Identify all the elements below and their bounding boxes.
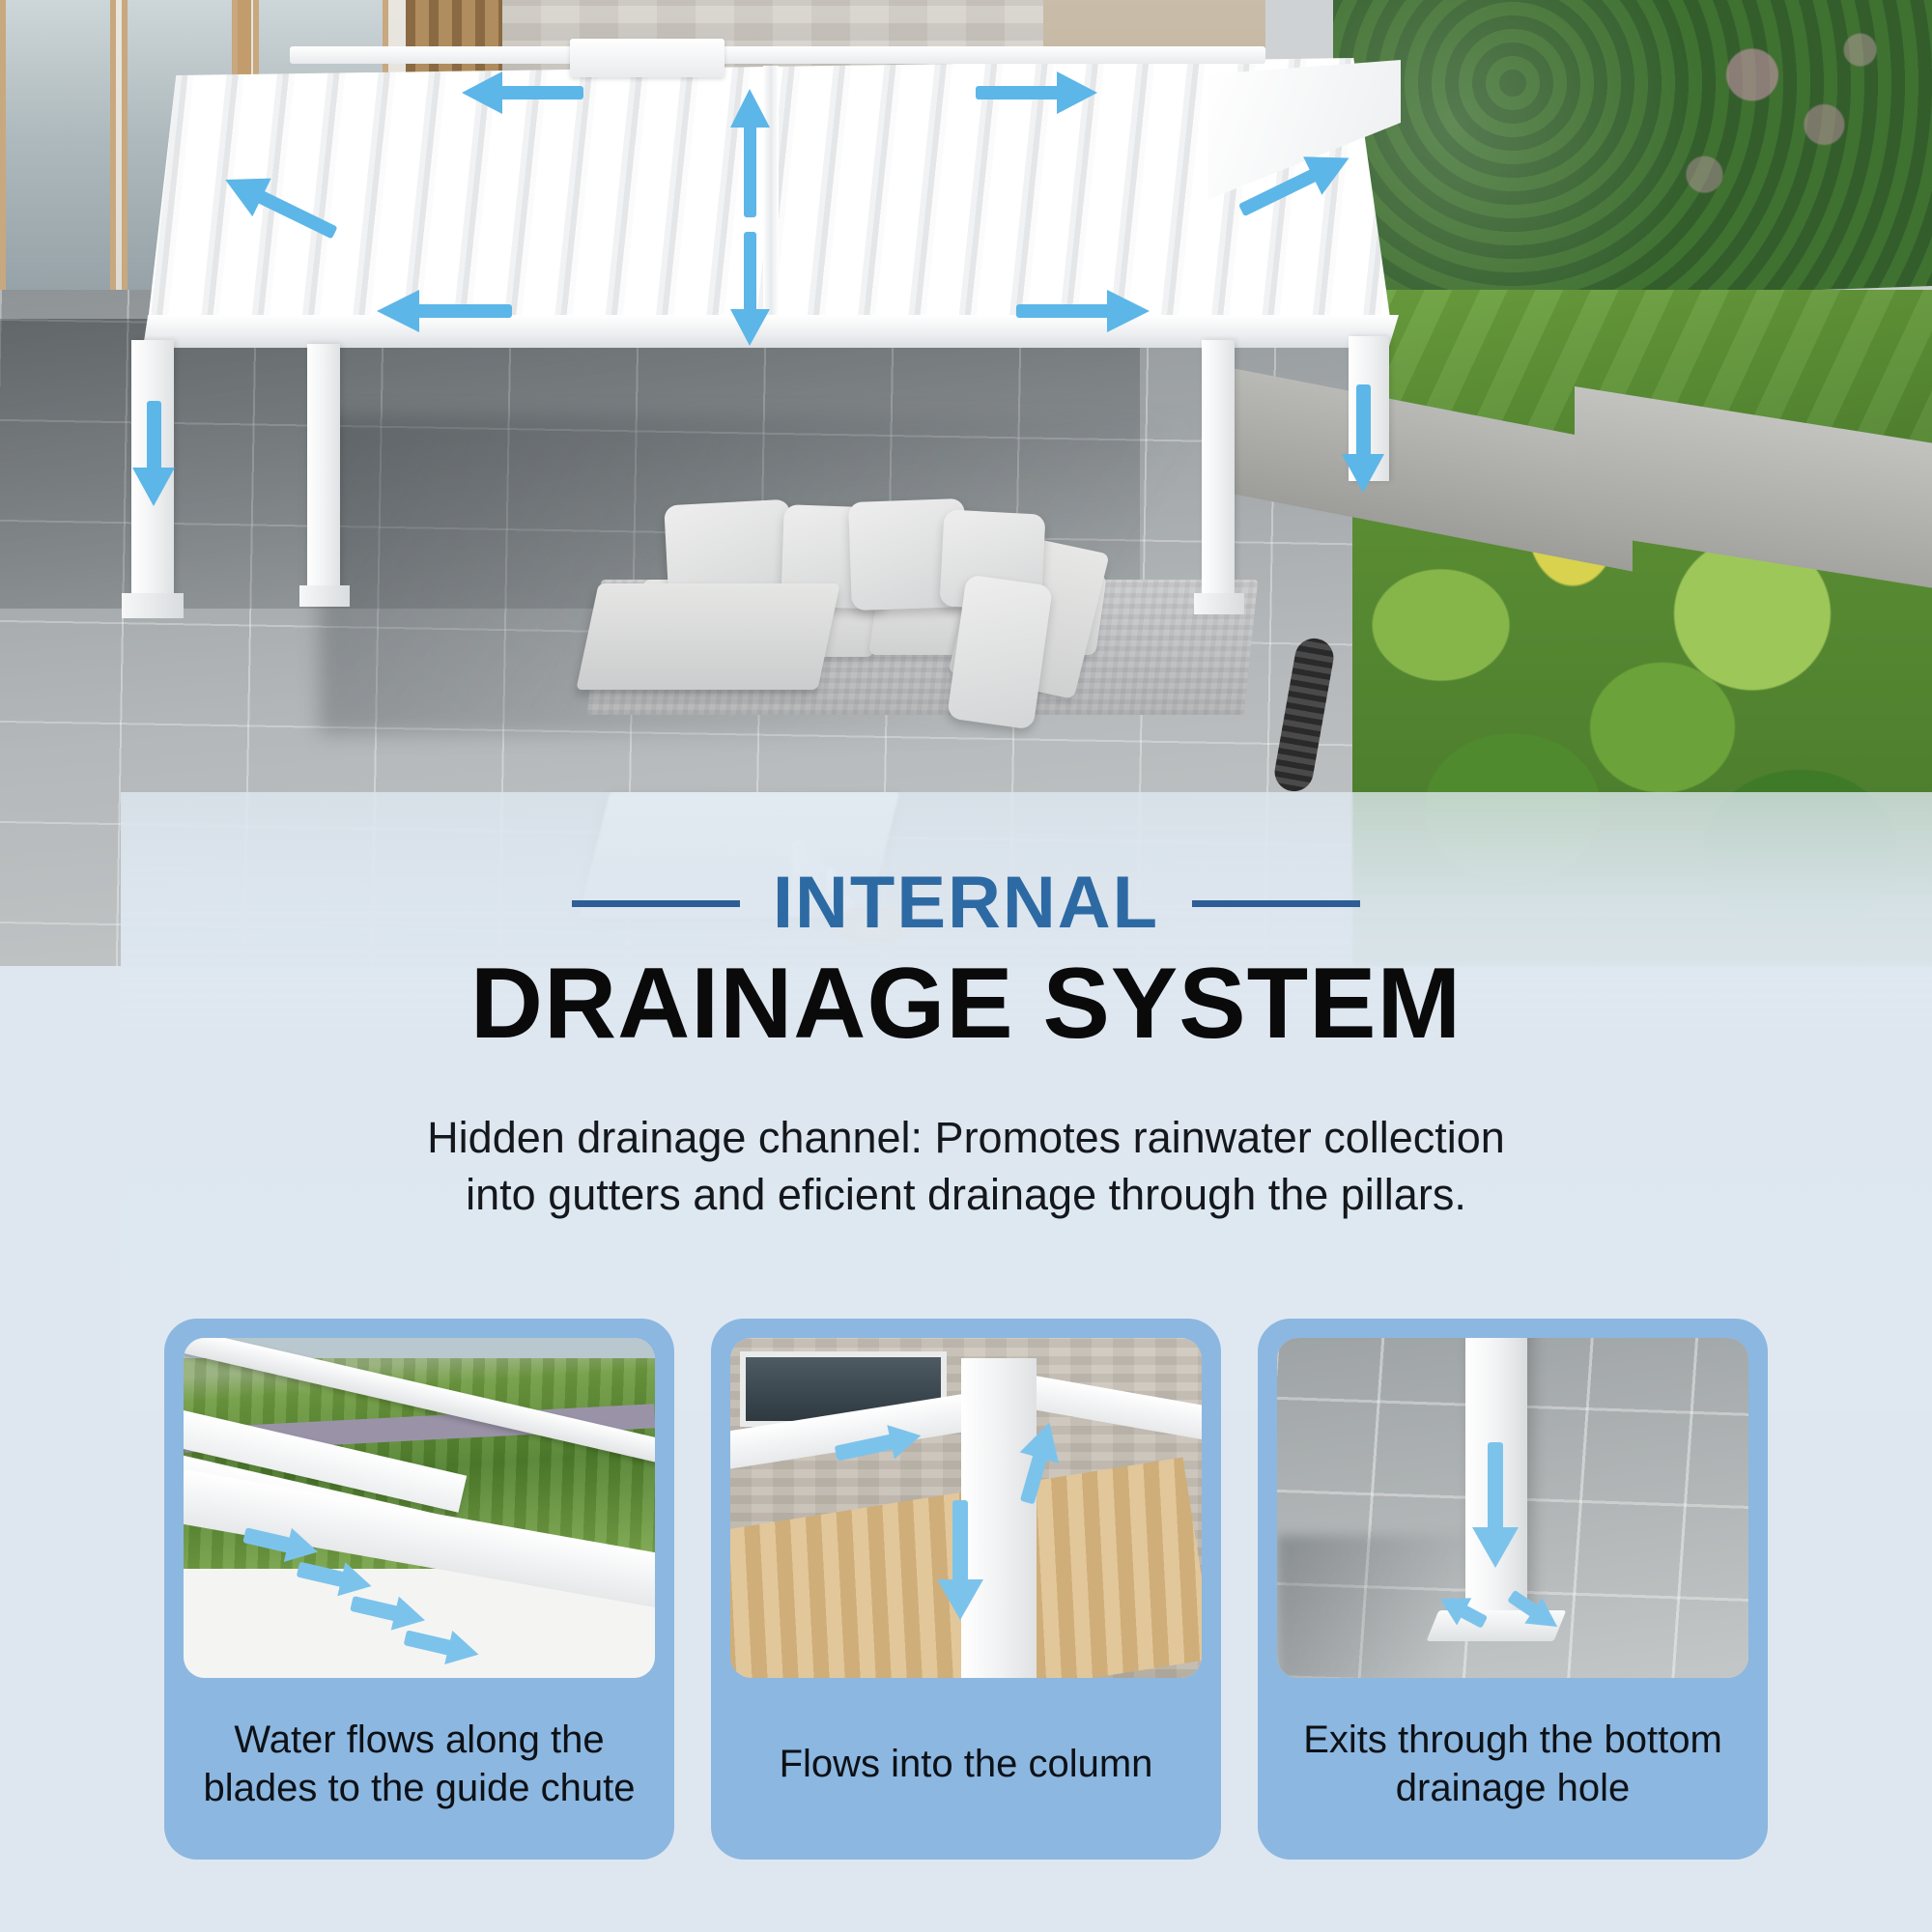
infographic-page: INTERNAL DRAINAGE SYSTEM Hidden drainage…	[0, 0, 1932, 1932]
kicker-dash-left	[572, 900, 740, 907]
kicker-row: INTERNAL	[0, 865, 1932, 942]
description-line-1: Hidden drainage channel: Promotes rainwa…	[0, 1109, 1932, 1166]
post-foot-back-right	[1194, 593, 1244, 614]
card-flows-into-column[interactable]: Flows into the column	[711, 1319, 1221, 1860]
photo2-arrows	[730, 1338, 1202, 1678]
card-caption: Water flows along the blades to the guid…	[184, 1678, 655, 1860]
post-back-left	[307, 344, 340, 595]
roof-back-rail	[290, 46, 1265, 64]
kicker-dash-right	[1192, 900, 1360, 907]
photo1-arrow-4	[401, 1621, 482, 1672]
louvered-roof	[145, 58, 1391, 348]
description-line-2: into gutters and eficient drainage throu…	[0, 1166, 1932, 1223]
ottoman	[576, 583, 839, 690]
gutter-and-lawn-photo	[184, 1338, 655, 1678]
card-caption: Exits through the bottom drainage hole	[1277, 1678, 1748, 1860]
photo1-arrow-1	[241, 1518, 322, 1569]
kicker-text: INTERNAL	[773, 867, 1159, 940]
photo2-arrow-right	[833, 1418, 925, 1470]
post-front-right	[1349, 336, 1389, 481]
photo3-arrow-out-left	[1433, 1585, 1492, 1636]
photo2-arrow-down-column	[937, 1500, 983, 1620]
post-foot-back-left	[299, 585, 350, 607]
card-water-flows-along-blades[interactable]: Water flows along the blades to the guid…	[164, 1319, 674, 1860]
post-back-right	[1202, 340, 1235, 601]
photo1-arrows	[184, 1338, 655, 1678]
photo3-arrow-down	[1472, 1442, 1519, 1568]
description-text: Hidden drainage channel: Promotes rainwa…	[0, 1109, 1932, 1224]
feature-cards: Water flows along the blades to the guid…	[164, 1319, 1768, 1860]
photo1-arrow-2	[294, 1552, 375, 1604]
photo1-arrow-3	[348, 1586, 429, 1637]
photo3-arrow-out-right	[1502, 1582, 1566, 1639]
page-title: DRAINAGE SYSTEM	[0, 952, 1932, 1057]
card-exits-bottom-drainage-hole[interactable]: Exits through the bottom drainage hole	[1258, 1319, 1768, 1860]
post-base-on-tile-photo	[1277, 1338, 1748, 1678]
card-caption: Flows into the column	[730, 1678, 1202, 1860]
post-foot-front-left	[122, 593, 184, 618]
roof-motor-housing	[570, 39, 724, 77]
photo3-arrows	[1277, 1338, 1748, 1678]
post-front-left	[131, 340, 174, 601]
column-and-eave-photo	[730, 1338, 1202, 1678]
roof-center-divider	[763, 66, 779, 346]
photo2-arrow-up-right	[1007, 1417, 1068, 1508]
